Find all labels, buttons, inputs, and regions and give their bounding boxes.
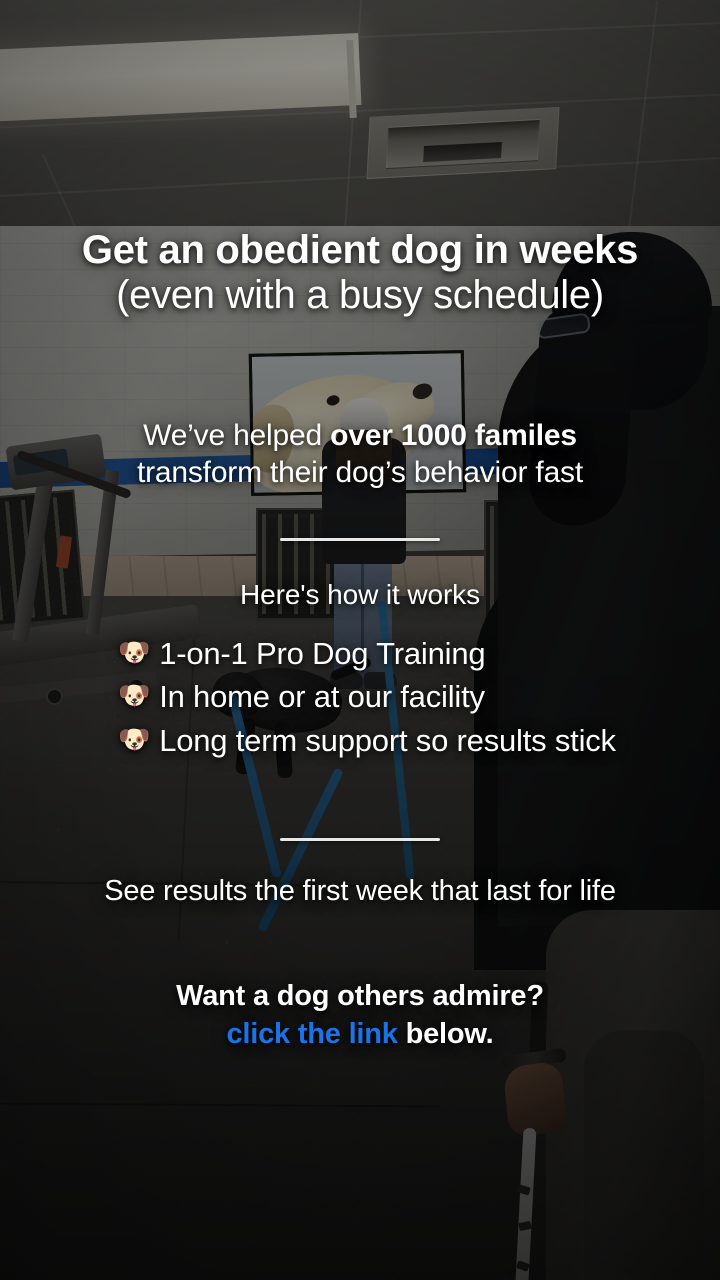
dog-face-emoji: 🐶 [118, 677, 150, 715]
cta-link-text[interactable]: click the link [226, 1018, 397, 1050]
how-it-works-label: Here's how it works [0, 579, 720, 610]
ad-copy-layer: Get an obedient dog in weeks (even with … [0, 0, 720, 1280]
dog-face-emoji: 🐶 [118, 721, 150, 759]
divider-bottom [280, 838, 440, 841]
list-item: 🐶 In home or at our facility [118, 677, 678, 717]
list-item: 🐶 1-on-1 Pro Dog Training [118, 634, 678, 674]
results-statement: See results the first week that last for… [0, 874, 720, 909]
subheadline-tail: transform their dog’s behavior fast [137, 456, 583, 489]
list-item-label: 1-on-1 Pro Dog Training [159, 634, 678, 674]
cta-tail: below. [398, 1018, 494, 1050]
subheadline-highlight: over 1000 familes [330, 419, 577, 452]
list-item-label: In home or at our facility [159, 677, 678, 717]
headline-bold: Get an obedient dog in weeks [82, 228, 638, 272]
subheadline-lead: We’ve helped [143, 419, 330, 452]
headline-regular: (even with a busy schedule) [116, 273, 604, 317]
list-item-label: Long term support so results stick [159, 721, 678, 761]
subheadline: We’ve helped over 1000 familestransform … [0, 418, 720, 491]
cta-question: Want a dog others admire? [176, 980, 544, 1012]
divider-top [280, 538, 440, 541]
dog-face-emoji: 🐶 [118, 634, 150, 672]
call-to-action: Want a dog others admire?click the link … [0, 978, 720, 1053]
list-item: 🐶 Long term support so results stick [118, 721, 678, 761]
ad-creative-canvas: Get an obedient dog in weeks (even with … [0, 0, 720, 1280]
headline: Get an obedient dog in weeks (even with … [0, 228, 720, 318]
benefits-list: 🐶 1-on-1 Pro Dog Training 🐶 In home or a… [118, 634, 678, 764]
